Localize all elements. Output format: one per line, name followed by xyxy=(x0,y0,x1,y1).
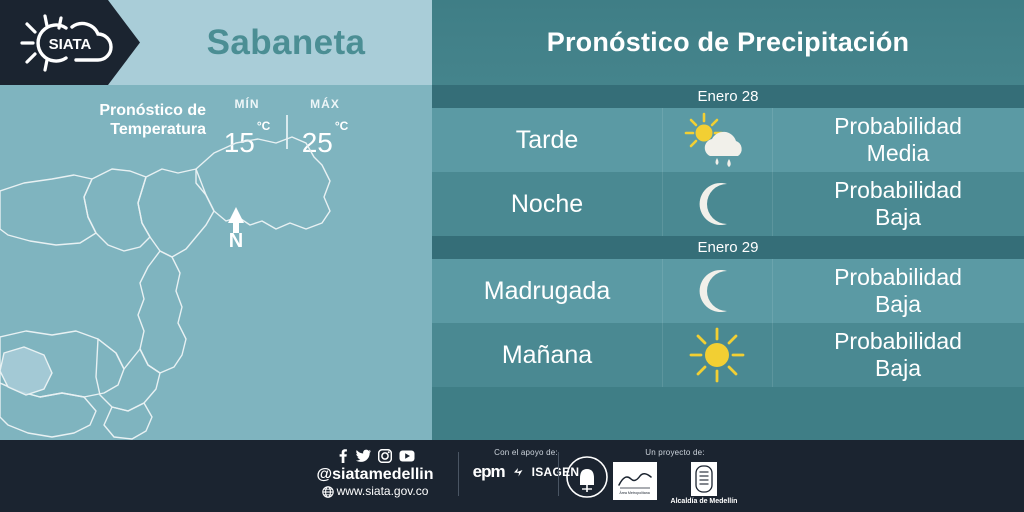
period-label-madrugada: Madrugada xyxy=(432,259,662,323)
area-metropolitana-logo-text: Área Metropolitana xyxy=(619,491,649,496)
highlighted-municipality xyxy=(0,347,52,395)
siata-logo-icon: SIATA xyxy=(14,10,126,76)
weather-icon-cell-tarde xyxy=(662,108,772,172)
project-logos: Área Metropolitana Alcaldía de Medellín xyxy=(600,462,750,505)
probability-line1: Probabilidad xyxy=(834,328,962,355)
instagram-icon[interactable] xyxy=(378,449,392,463)
forecast-row-manana[interactable]: Mañana xyxy=(432,323,1024,387)
date-band-1: Enero 28 xyxy=(432,85,1024,108)
social-icons xyxy=(300,448,450,463)
forecast-row-tarde[interactable]: Tarde xyxy=(432,108,1024,172)
probability-line2: Baja xyxy=(875,291,921,318)
forecast-row-noche[interactable]: Noche Probabilidad Baja xyxy=(432,172,1024,236)
website-url: www.siata.gov.co xyxy=(337,484,429,499)
probability-line1: Probabilidad xyxy=(834,264,962,291)
alcaldia-crest-icon xyxy=(694,464,714,494)
epm-logo: epm xyxy=(473,462,505,482)
project-group: Un proyecto de: Área Metropolitana xyxy=(600,448,750,505)
probability-noche: Probabilidad Baja xyxy=(772,172,1024,236)
siata-logo-text: SIATA xyxy=(49,36,92,53)
weather-icon-cell-manana xyxy=(662,323,772,387)
weather-infographic: SIATA Sabaneta Pronóstico de Precipitaci… xyxy=(0,0,1024,512)
map-panel: Pronóstico de Temperatura MÍN 15°C MÁX 2… xyxy=(0,85,432,440)
temperature-label-line1: Pronóstico de xyxy=(58,101,206,120)
globe-icon xyxy=(322,486,334,498)
moon-icon xyxy=(691,178,743,230)
north-arrow-label: N xyxy=(229,230,243,252)
alcaldia-logo-wrap: Alcaldía de Medellín xyxy=(671,462,738,505)
sun-icon xyxy=(688,326,746,384)
sun-disc xyxy=(696,125,713,142)
probability-manana: Probabilidad Baja xyxy=(772,323,1024,387)
raindrop xyxy=(716,158,719,165)
facebook-icon[interactable] xyxy=(336,449,349,463)
sun-cloud-rain-icon xyxy=(684,112,750,168)
city-title: Sabaneta xyxy=(140,0,432,85)
probability-line1: Probabilidad xyxy=(834,113,962,140)
forecast-table: Enero 28 Tarde xyxy=(432,85,1024,440)
footer-divider xyxy=(458,452,459,496)
forecast-row-madrugada[interactable]: Madrugada Probabilidad Baja xyxy=(432,259,1024,323)
raindrop xyxy=(727,159,730,167)
period-label-manana: Mañana xyxy=(432,323,662,387)
footer-divider xyxy=(558,452,559,496)
probability-line1: Probabilidad xyxy=(834,177,962,204)
probability-line2: Baja xyxy=(875,355,921,382)
weather-icon-cell-noche xyxy=(662,172,772,236)
footer: @siatamedellin www.siata.gov.co Con el a… xyxy=(0,440,1024,512)
website-row[interactable]: www.siata.gov.co xyxy=(300,484,450,499)
alcaldia-crest-box xyxy=(691,462,717,496)
social-handle[interactable]: @siatamedellin xyxy=(300,465,450,484)
top-bar: SIATA Sabaneta Pronóstico de Precipitaci… xyxy=(0,0,1024,85)
project-caption: Un proyecto de: xyxy=(600,448,750,457)
alcaldia-logo-text: Alcaldía de Medellín xyxy=(671,498,738,505)
area-signature-icon xyxy=(615,467,655,491)
north-arrow-icon: N xyxy=(228,207,244,252)
weather-icon-cell-madrugada xyxy=(662,259,772,323)
municipality-map: N xyxy=(0,125,432,440)
date-band-2: Enero 29 xyxy=(432,236,1024,259)
social-block: @siatamedellin www.siata.gov.co xyxy=(300,448,450,499)
isagen-mark-icon xyxy=(513,467,524,478)
twitter-icon[interactable] xyxy=(356,449,371,463)
moon-icon xyxy=(691,265,743,317)
probability-madrugada: Probabilidad Baja xyxy=(772,259,1024,323)
youtube-icon[interactable] xyxy=(399,450,415,462)
area-metropolitana-logo: Área Metropolitana xyxy=(613,462,657,500)
period-label-tarde: Tarde xyxy=(432,108,662,172)
probability-line2: Baja xyxy=(875,204,921,231)
probability-line2: Media xyxy=(867,140,930,167)
forecast-title: Pronóstico de Precipitación xyxy=(432,0,1024,85)
period-label-noche: Noche xyxy=(432,172,662,236)
temperature-min-caption: MÍN xyxy=(216,97,278,111)
sun-disc xyxy=(705,343,729,367)
temperature-max-caption: MÁX xyxy=(294,97,356,111)
probability-tarde: Probabilidad Media xyxy=(772,108,1024,172)
